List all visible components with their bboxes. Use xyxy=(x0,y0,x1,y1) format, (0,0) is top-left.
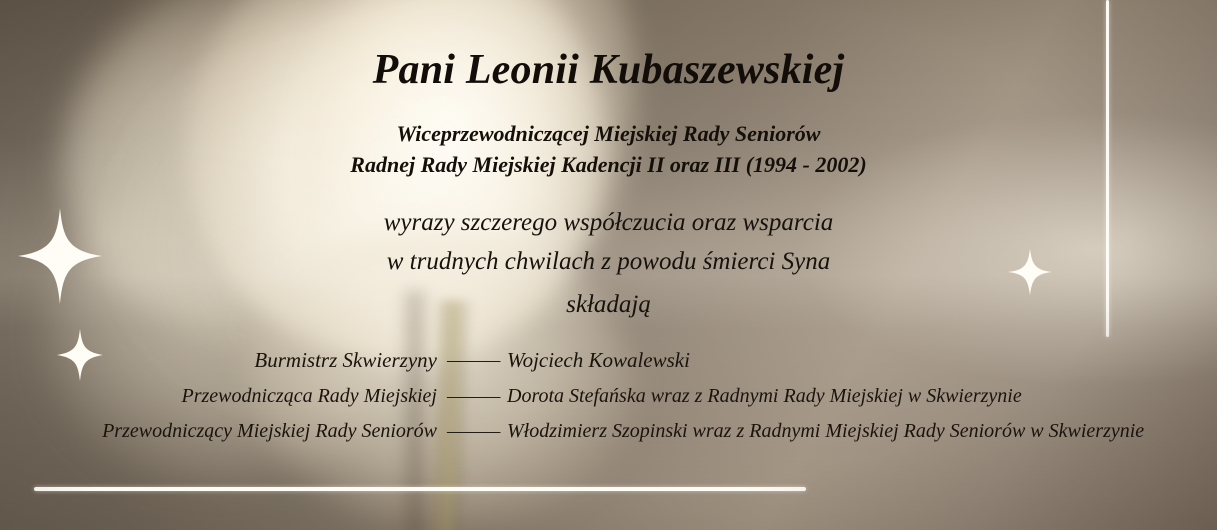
signature-role: Przewodniczący Miejskiej Rady Seniorów xyxy=(0,420,447,443)
signature-dash-icon: ——— xyxy=(447,349,499,372)
recipient-title: Pani Leonii Kubaszewskiej xyxy=(0,46,1217,94)
signature-list: Burmistrz Skwierzyny ——— Wojciech Kowale… xyxy=(0,348,1217,455)
recipient-roles: Wiceprzewodniczącej Miejskiej Rady Senio… xyxy=(0,118,1217,180)
message-line-1: wyrazy szczerego współczucia oraz wsparc… xyxy=(0,204,1217,243)
signature-name: Wojciech Kowalewski xyxy=(499,348,690,373)
recipient-role-2: Radnej Rady Miejskiej Kadencji II oraz I… xyxy=(0,149,1217,180)
signature-row: Przewodnicząca Rady Miejskiej ——— Dorota… xyxy=(0,385,1217,408)
signature-role: Przewodnicząca Rady Miejskiej xyxy=(0,385,447,408)
condolence-card: Pani Leonii Kubaszewskiej Wiceprzewodnic… xyxy=(0,0,1217,530)
message-line-2: w trudnych chwilach z powodu śmierci Syn… xyxy=(0,243,1217,282)
signature-name: Dorota Stefańska wraz z Radnymi Rady Mie… xyxy=(499,385,1022,408)
signature-row: Burmistrz Skwierzyny ——— Wojciech Kowale… xyxy=(0,348,1217,373)
signature-role: Burmistrz Skwierzyny xyxy=(0,348,447,373)
signature-row: Przewodniczący Miejskiej Rady Seniorów —… xyxy=(0,420,1217,443)
recipient-role-1: Wiceprzewodniczącej Miejskiej Rady Senio… xyxy=(0,118,1217,149)
signature-dash-icon: ——— xyxy=(447,420,499,443)
condolence-message: wyrazy szczerego współczucia oraz wsparc… xyxy=(0,204,1217,324)
card-content: Pani Leonii Kubaszewskiej Wiceprzewodnic… xyxy=(0,0,1217,530)
message-closing: składają xyxy=(0,286,1217,325)
signature-dash-icon: ——— xyxy=(447,385,499,408)
signature-name: Włodzimierz Szopinski wraz z Radnymi Mie… xyxy=(499,420,1144,443)
